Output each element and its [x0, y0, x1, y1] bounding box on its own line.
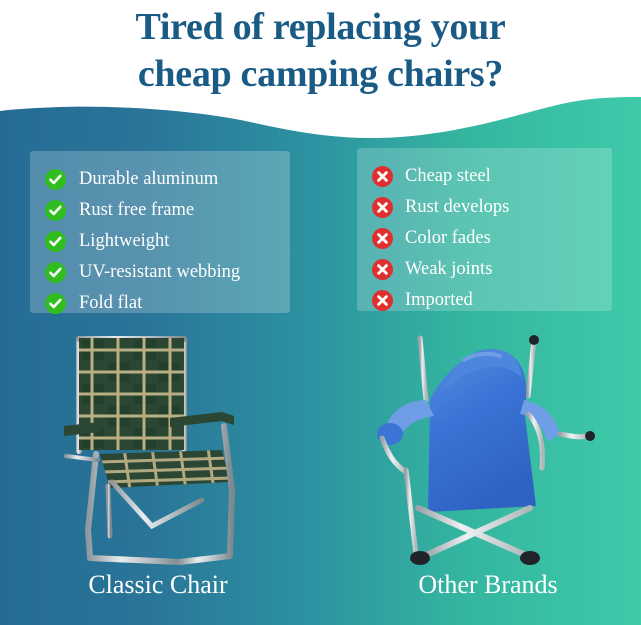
list-item: Fold flat — [30, 288, 290, 319]
list-item-label: Color fades — [405, 228, 491, 249]
list-item: UV-resistant webbing — [30, 257, 290, 288]
list-item-label: Imported — [405, 290, 473, 311]
page-title: Tired of replacing your cheap camping ch… — [0, 4, 641, 98]
x-circle-icon — [372, 197, 393, 218]
cons-list: Cheap steel Rust develops Color fades We… — [357, 148, 612, 316]
list-item: Lightweight — [30, 226, 290, 257]
list-item: Cheap steel — [357, 161, 612, 192]
pros-card: Durable aluminum Rust free frame Lightwe… — [30, 151, 290, 313]
other-brands-chair-image — [368, 330, 612, 568]
infographic-poster: Tired of replacing your cheap camping ch… — [0, 0, 641, 625]
header: Tired of replacing your cheap camping ch… — [0, 0, 641, 118]
cons-card: Cheap steel Rust develops Color fades We… — [357, 148, 612, 311]
list-item-label: Lightweight — [79, 231, 169, 252]
list-item: Rust develops — [357, 192, 612, 223]
list-item: Imported — [357, 285, 612, 316]
check-circle-icon — [45, 169, 66, 190]
list-item: Durable aluminum — [30, 164, 290, 195]
check-circle-icon — [45, 293, 66, 314]
pros-list: Durable aluminum Rust free frame Lightwe… — [30, 151, 290, 319]
list-item-label: Weak joints — [405, 259, 492, 280]
x-circle-icon — [372, 259, 393, 280]
check-circle-icon — [45, 231, 66, 252]
list-item-label: Rust free frame — [79, 200, 194, 221]
list-item-label: Fold flat — [79, 293, 142, 314]
check-circle-icon — [45, 200, 66, 221]
classic-chair-caption: Classic Chair — [22, 570, 294, 600]
list-item-label: Cheap steel — [405, 166, 491, 187]
x-circle-icon — [372, 290, 393, 311]
list-item: Rust free frame — [30, 195, 290, 226]
classic-chair-image — [52, 330, 284, 568]
list-item-label: Durable aluminum — [79, 169, 218, 190]
list-item-label: UV-resistant webbing — [79, 262, 240, 283]
list-item-label: Rust develops — [405, 197, 509, 218]
x-circle-icon — [372, 166, 393, 187]
list-item: Weak joints — [357, 254, 612, 285]
list-item: Color fades — [357, 223, 612, 254]
other-brands-caption: Other Brands — [352, 570, 624, 600]
x-circle-icon — [372, 228, 393, 249]
check-circle-icon — [45, 262, 66, 283]
